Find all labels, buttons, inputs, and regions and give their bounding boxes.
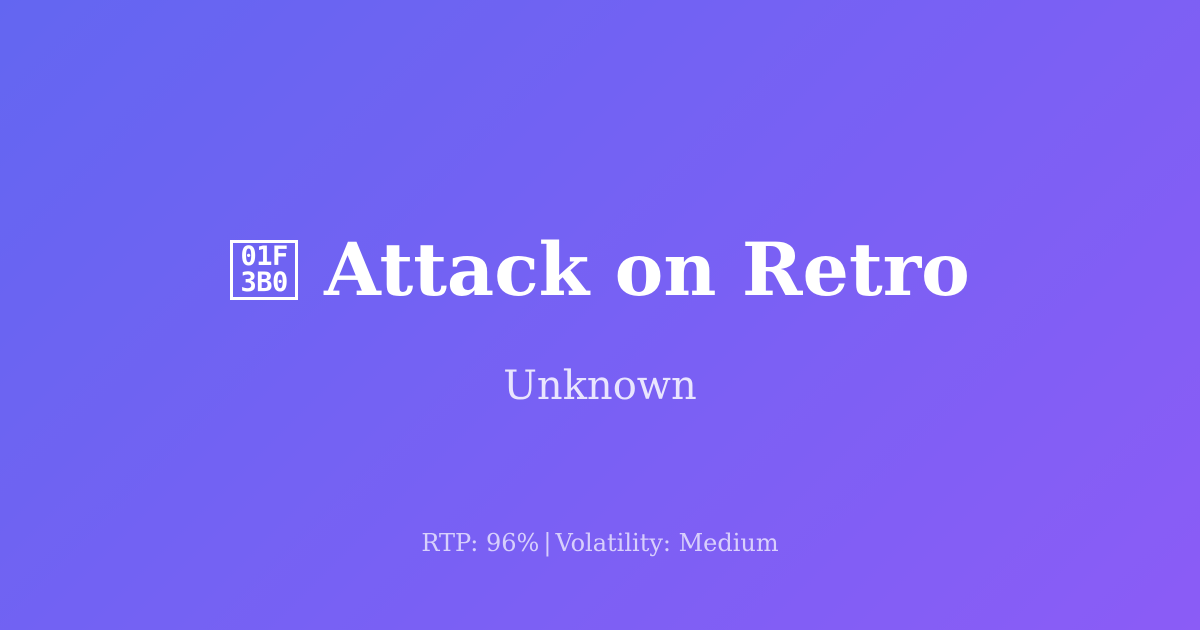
rtp-value: RTP: 96%: [421, 529, 539, 557]
card-subtitle: Unknown: [0, 362, 1200, 410]
page-title: Attack on Retro: [324, 232, 970, 309]
volatility-value: Volatility: Medium: [555, 529, 778, 557]
slot-machine-emoji-icon: 01F 3B0: [230, 240, 298, 300]
title-row: 01F 3B0 Attack on Retro: [0, 232, 1200, 309]
card-meta-line: RTP: 96%|Volatility: Medium: [0, 528, 1200, 558]
meta-separator: |: [539, 529, 555, 557]
og-share-card: 01F 3B0 Attack on Retro Unknown RTP: 96%…: [0, 0, 1200, 630]
tofu-codepoint-row-bottom: 3B0: [241, 270, 288, 296]
